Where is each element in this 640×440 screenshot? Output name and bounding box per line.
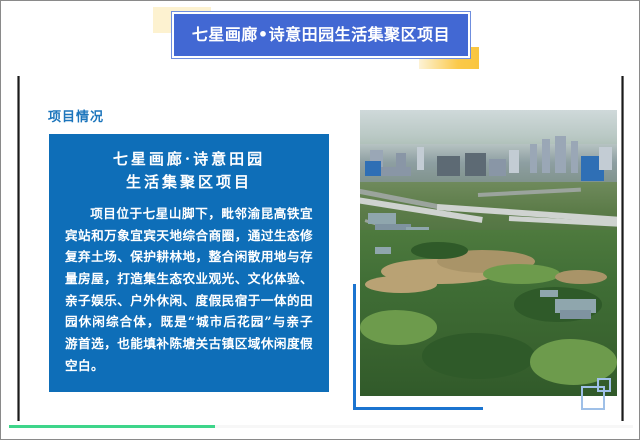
- slide-progress-track[interactable]: [9, 425, 633, 428]
- slide-title-zone: 七星画廊•诗意田园生活集聚区项目: [1, 1, 640, 69]
- title-banner-outline: 七星画廊•诗意田园生活集聚区项目: [171, 11, 471, 59]
- section-heading: 项目情况: [48, 106, 104, 125]
- panel-heading: 七星画廊·诗意田园 生活集聚区项目: [65, 148, 313, 193]
- left-rail-decoration: [17, 76, 20, 421]
- aerial-photo: [360, 110, 617, 396]
- right-rail-decoration: [621, 76, 624, 421]
- slide-title: 七星画廊•诗意田园生活集聚区项目: [192, 27, 450, 43]
- panel-heading-line-2: 生活集聚区项目: [65, 171, 313, 194]
- small-square-outline-decoration: [597, 378, 611, 392]
- slide-progress-fill: [9, 425, 215, 428]
- title-banner: 七星画廊•诗意田园生活集聚区项目: [174, 14, 468, 56]
- panel-heading-line-1: 七星画廊·诗意田园: [65, 148, 313, 171]
- project-description-panel: 七星画廊·诗意田园 生活集聚区项目 项目位于七星山脚下，毗邻渝昆高铁宜宾站和万象…: [49, 134, 329, 392]
- presentation-slide: 七星画廊•诗意田园生活集聚区项目 项目情况 七星画廊·诗意田园 生活集聚区项目 …: [0, 0, 640, 440]
- panel-body-text: 项目位于七星山脚下，毗邻渝昆高铁宜宾站和万象宜宾天地综合商圈，通过生态修复弃土场…: [65, 203, 313, 376]
- aerial-photo-content: [360, 110, 617, 396]
